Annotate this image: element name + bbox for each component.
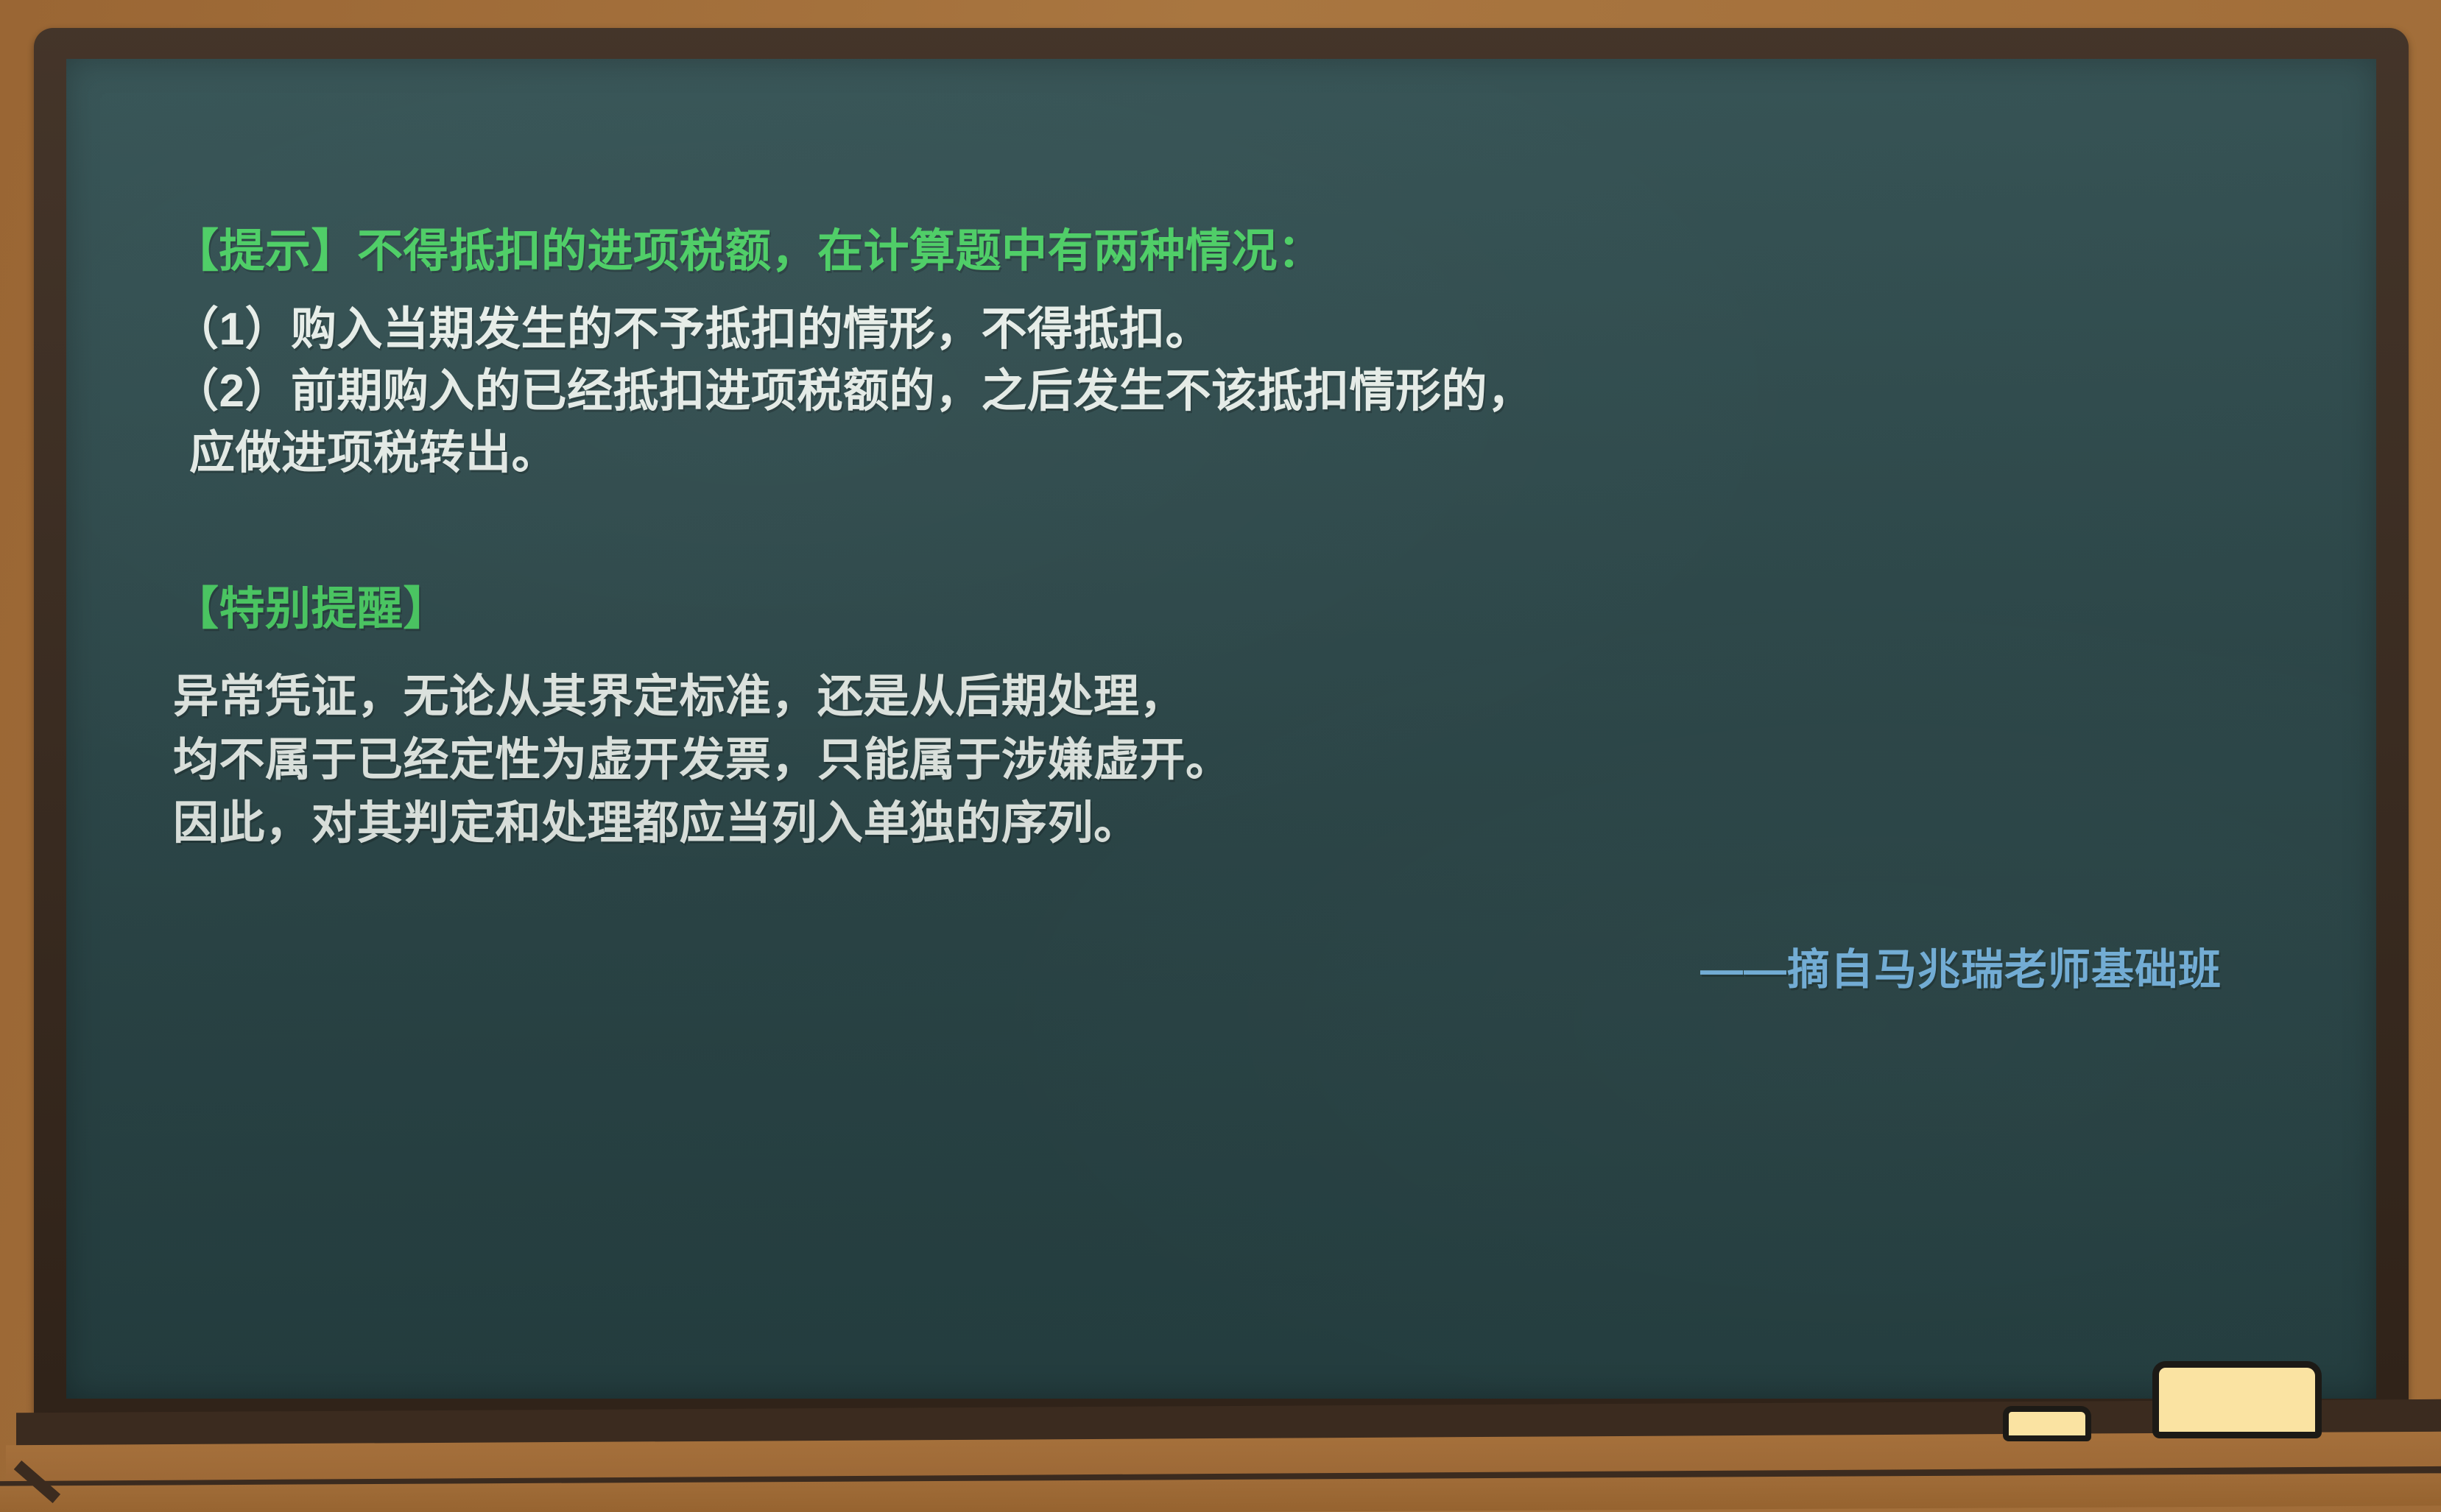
reminder-line-2: 均不属于已经定性为虚开发票，只能属于涉嫌虚开。: [173, 729, 2310, 792]
attribution-text: ——摘自马兆瑞老师基础班: [1700, 935, 2222, 997]
tip-item-2: （2）前期购入的已经抵扣进项税额的，之后发生不该抵扣情形的，: [173, 361, 2310, 423]
tip-heading: 【提示】不得抵扣的进项税额，在计算题中有两种情况：: [173, 221, 2310, 283]
spacer-after-reminder-heading: [173, 640, 2310, 665]
reminder-line-1: 异常凭证，无论从其界定标准，还是从后期处理，: [173, 665, 2310, 729]
reminder-heading: 【特别提醒】: [173, 579, 2310, 640]
tip-item-3: 应做进项税转出。: [173, 423, 2310, 484]
reminder-line-3: 因此，对其判定和处理都应当列入单独的序列。: [173, 792, 2310, 855]
spacer-after-tip-heading: [173, 283, 2310, 299]
lesson-text-block: 【提示】不得抵扣的进项税额，在计算题中有两种情况： （1）购入当期发生的不予抵扣…: [173, 221, 2310, 997]
chalkboard-frame: 【提示】不得抵扣的进项税额，在计算题中有两种情况： （1）购入当期发生的不予抵扣…: [34, 28, 2409, 1431]
attribution-row: ——摘自马兆瑞老师基础班: [173, 935, 2310, 997]
chalk-stick[interactable]: [2003, 1406, 2091, 1441]
spacer-between-sections: [173, 484, 2310, 579]
chalkboard-scene: 【提示】不得抵扣的进项税额，在计算题中有两种情况： （1）购入当期发生的不予抵扣…: [0, 0, 2441, 1512]
chalk-eraser[interactable]: [2152, 1361, 2322, 1438]
tip-item-1: （1）购入当期发生的不予抵扣的情形，不得抵扣。: [173, 299, 2310, 361]
chalkboard-surface: 【提示】不得抵扣的进项税额，在计算题中有两种情况： （1）购入当期发生的不予抵扣…: [66, 59, 2376, 1399]
